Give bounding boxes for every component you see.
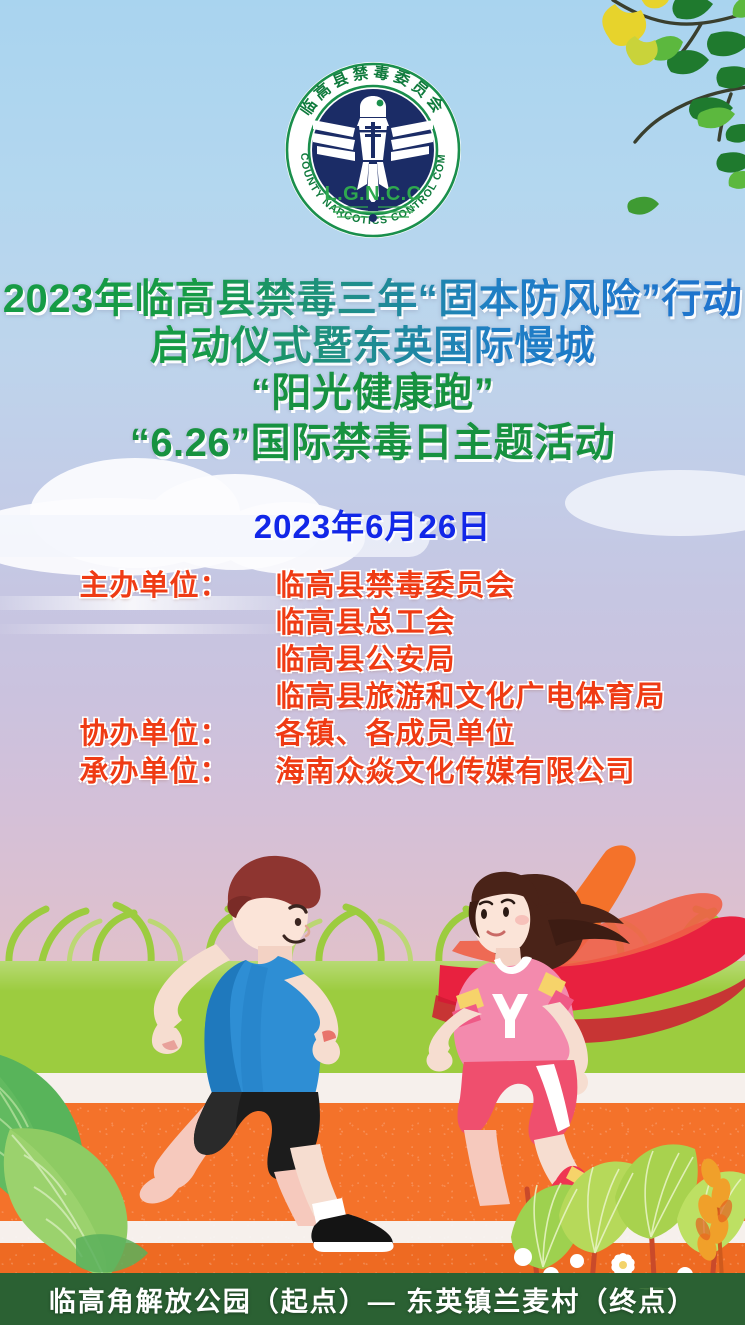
organizer-label: 协办单位： xyxy=(79,716,275,753)
organizer-value: 临高县禁毒委员会 xyxy=(275,568,665,605)
footer-banner: 临高角解放公园（起点）— 东英镇兰麦村（终点） xyxy=(0,1273,745,1325)
title-line-3: “阳光健康跑” xyxy=(0,372,745,415)
organizers-block: 主办单位： 临高县禁毒委员会 临高县总工会 临高县公安局 临高县旅游和文化广电体… xyxy=(0,568,745,791)
logo: 临高县禁毒委员会 LINGAO COUNTY NARCOTICS CONTROL… xyxy=(283,60,463,240)
event-date: 2023年6月26日 xyxy=(0,500,745,548)
foliage-bottom-right xyxy=(505,1069,745,1299)
title-line-4: “6.26”国际禁毒日主题活动 xyxy=(0,422,745,465)
svg-text:L.G.N.C.C: L.G.N.C.C xyxy=(324,183,421,205)
route-text: 临高角解放公园（起点）— 东英镇兰麦村（终点） xyxy=(49,1280,697,1319)
title-line-1: 2023年临高县禁毒三年“固本防风险”行动 xyxy=(0,278,745,321)
organizer-value: 临高县旅游和文化广电体育局 xyxy=(275,679,665,716)
title-line-2: 启动仪式暨东英国际慢城 xyxy=(0,325,745,368)
organizer-row: 协办单位： 各镇、各成员单位 xyxy=(79,716,665,753)
organizer-row: 临高县总工会 xyxy=(79,605,665,642)
organizer-row: 临高县旅游和文化广电体育局 xyxy=(79,679,665,716)
organizer-value: 临高县公安局 xyxy=(275,642,665,679)
foliage-bottom-left xyxy=(0,1039,230,1299)
organizer-label: 主办单位： xyxy=(79,568,275,605)
organizer-value: 海南众焱文化传媒有限公司 xyxy=(275,754,665,791)
organizer-row: 主办单位： 临高县禁毒委员会 xyxy=(79,568,665,605)
organizer-row: 临高县公安局 xyxy=(79,642,665,679)
poster-canvas: 临高县禁毒委员会 LINGAO COUNTY NARCOTICS CONTROL… xyxy=(0,0,745,1325)
tree-branch-decoration xyxy=(525,0,745,224)
organizer-value: 临高县总工会 xyxy=(275,605,665,642)
organizer-label: 承办单位： xyxy=(79,754,275,791)
organizer-row: 承办单位： 海南众焱文化传媒有限公司 xyxy=(79,754,665,791)
organizer-value: 各镇、各成员单位 xyxy=(275,716,665,753)
title-block: 2023年临高县禁毒三年“固本防风险”行动 启动仪式暨东英国际慢城 “阳光健康跑… xyxy=(0,278,745,465)
